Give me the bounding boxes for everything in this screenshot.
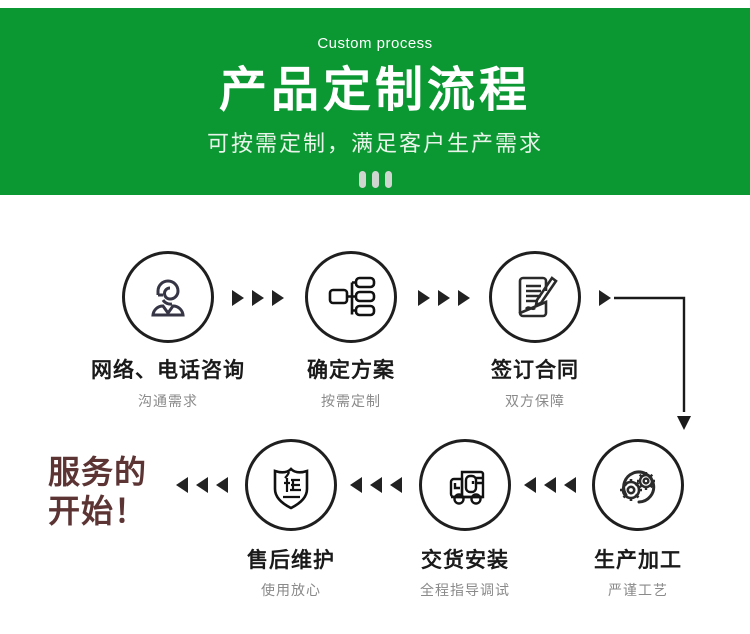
arrow-right-icon <box>232 290 244 306</box>
step-1-circle[interactable] <box>122 251 214 343</box>
step-6-title: 售后维护 <box>205 550 377 571</box>
plan-hierarchy-icon <box>323 269 379 325</box>
flow-arrow-group-left-3 <box>524 477 576 493</box>
banner-subtitle: 可按需定制，满足客户生产需求 <box>0 133 750 155</box>
arrow-right-icon <box>438 290 450 306</box>
arrow-right-icon <box>458 290 470 306</box>
step-5-title: 交货安装 <box>379 550 551 571</box>
elbow-connector-down <box>610 280 700 440</box>
arrow-right-icon <box>252 290 264 306</box>
decor-dot-3 <box>385 171 392 188</box>
step-6-sub: 使用放心 <box>205 583 377 597</box>
arrow-left-icon <box>370 477 382 493</box>
flow-arrow-group-left-2 <box>350 477 402 493</box>
service-start-line-1: 服务的 <box>48 453 147 492</box>
gears-production-icon <box>610 457 666 513</box>
service-start-label: 服务的 开始！ <box>48 453 147 531</box>
arrow-left-icon <box>176 477 188 493</box>
header-banner: Custom process 产品定制流程 可按需定制，满足客户生产需求 <box>0 8 750 195</box>
step-5-sub: 全程指导调试 <box>379 583 551 597</box>
service-start-line-2: 开始！ <box>48 492 147 531</box>
arrow-left-icon <box>350 477 362 493</box>
banner-eyebrow: Custom process <box>0 8 750 51</box>
step-5-circle[interactable] <box>419 439 511 531</box>
process-flow: 网络、电话咨询 沟通需求 确定方案 按需定制 <box>0 195 750 634</box>
step-2-circle[interactable] <box>305 251 397 343</box>
arrow-left-icon <box>524 477 536 493</box>
flow-arrow-group-2 <box>418 290 470 306</box>
step-4-sub: 严谨工艺 <box>552 583 724 597</box>
step-4-title: 生产加工 <box>552 550 724 571</box>
step-2-sub: 按需定制 <box>265 394 437 408</box>
step-1-title: 网络、电话咨询 <box>68 360 268 381</box>
banner-decor-dots <box>0 171 750 188</box>
step-4-circle[interactable] <box>592 439 684 531</box>
step-3-circle[interactable] <box>489 251 581 343</box>
step-3-sub: 双方保障 <box>449 394 621 408</box>
arrow-left-icon <box>564 477 576 493</box>
arrow-left-icon <box>544 477 556 493</box>
page-title: 产品定制流程 <box>0 67 750 115</box>
decor-dot-2 <box>372 171 379 188</box>
arrow-left-icon <box>216 477 228 493</box>
flow-arrow-group-left-1 <box>176 477 228 493</box>
step-2-title: 确定方案 <box>265 360 437 381</box>
step-3-title: 签订合同 <box>449 360 621 381</box>
decor-dot-1 <box>359 171 366 188</box>
arrow-right-icon <box>418 290 430 306</box>
arrow-left-icon <box>390 477 402 493</box>
step-6-circle[interactable] <box>245 439 337 531</box>
consultant-person-icon <box>140 269 196 325</box>
arrow-right-icon <box>272 290 284 306</box>
after-sales-shield-icon <box>263 457 319 513</box>
flow-arrow-group-1 <box>232 290 284 306</box>
step-1-sub: 沟通需求 <box>68 394 268 408</box>
delivery-truck-icon <box>437 457 493 513</box>
contract-sign-icon <box>507 269 563 325</box>
arrow-left-icon <box>196 477 208 493</box>
